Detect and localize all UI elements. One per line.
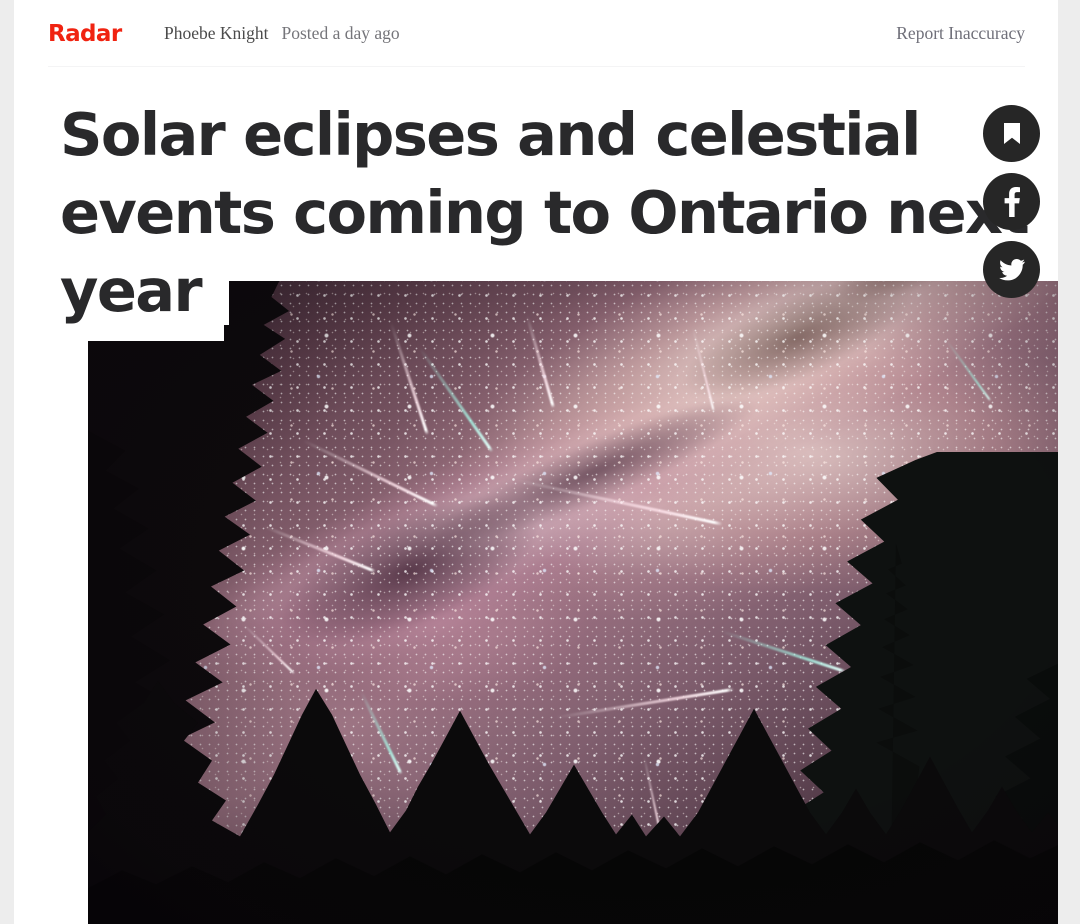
- meteor-streak: [751, 849, 755, 907]
- meteor-streak: [643, 756, 663, 841]
- social-share-rail: [983, 105, 1041, 298]
- report-inaccuracy-link[interactable]: Report Inaccuracy: [896, 23, 1025, 44]
- headline-backdrop-notch: [48, 265, 224, 341]
- meteor-streak: [1024, 624, 1058, 667]
- headline-line-1: Solar eclipses and celestial: [60, 96, 980, 174]
- brand-logo[interactable]: Radar: [48, 23, 164, 46]
- byline-author[interactable]: Phoebe Knight: [164, 23, 269, 44]
- hero-image: [88, 281, 1058, 924]
- meteor-streak: [263, 525, 375, 573]
- header-divider: [48, 66, 1025, 67]
- meteor-streak: [887, 558, 976, 624]
- headline-line-1-text: Solar eclipses and celestial: [60, 100, 940, 169]
- meteor-streak: [360, 690, 403, 774]
- bookmark-icon: [1002, 122, 1022, 146]
- meteor-streak: [302, 439, 438, 507]
- meteor-streak: [243, 624, 295, 674]
- twitter-share-button[interactable]: [983, 241, 1040, 298]
- byline: Phoebe Knight Posted a day ago: [164, 23, 896, 44]
- meteor-streak: [848, 796, 860, 866]
- meteor-streak: [926, 703, 992, 776]
- meteor-streak: [722, 630, 847, 673]
- meteor-streak: [946, 341, 991, 402]
- meteor-streak: [556, 688, 734, 719]
- twitter-icon: [999, 259, 1025, 281]
- bookmark-button[interactable]: [983, 105, 1040, 162]
- meteor-streak: [458, 822, 467, 886]
- meteor-streak: [692, 328, 715, 412]
- meteor-streak: [517, 479, 723, 526]
- site-header: Radar Phoebe Knight Posted a day ago Rep…: [48, 0, 1025, 66]
- meteor-streak: [419, 348, 494, 453]
- headline-line-2: events coming to Ontario next: [60, 174, 980, 252]
- byline-timestamp: Posted a day ago: [282, 23, 400, 44]
- meteor-streak: [526, 315, 555, 408]
- headline-line-2-text: events coming to Ontario next: [60, 178, 1048, 247]
- hero-photo-canvas: [88, 281, 1058, 924]
- meteor-streak: [389, 322, 428, 435]
- facebook-share-button[interactable]: [983, 173, 1040, 230]
- meteor-streak-layer: [88, 281, 1058, 924]
- page-root: Radar Phoebe Knight Posted a day ago Rep…: [0, 0, 1080, 924]
- article-card: Radar Phoebe Knight Posted a day ago Rep…: [14, 0, 1058, 924]
- meteor-streak: [985, 492, 1052, 552]
- facebook-icon: [1004, 187, 1020, 217]
